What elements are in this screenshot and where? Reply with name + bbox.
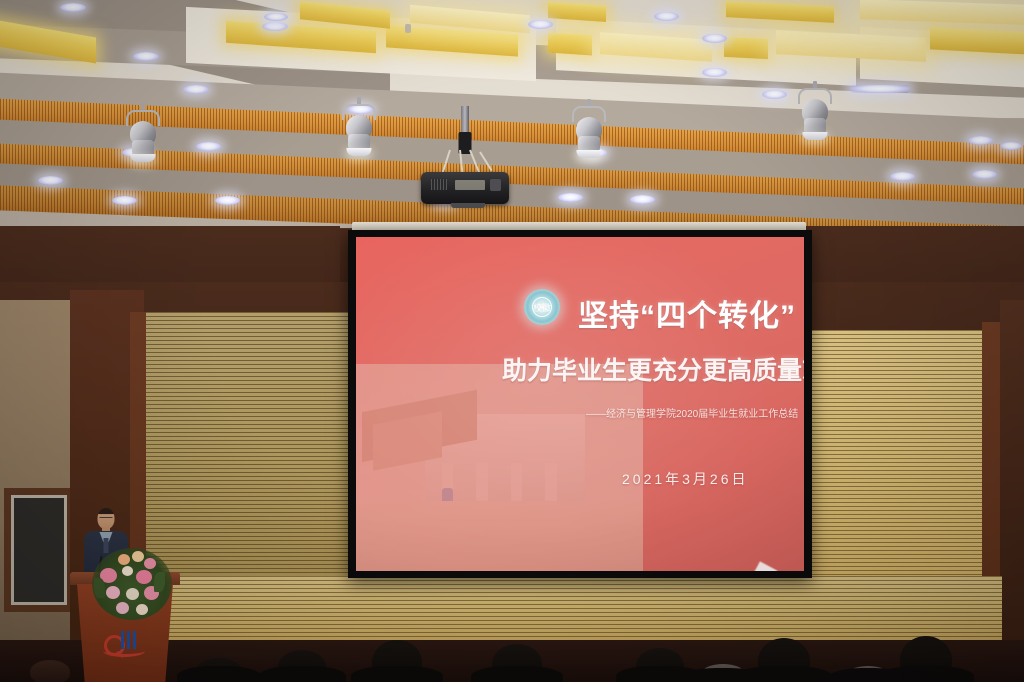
flower-leaf <box>154 572 165 592</box>
flower-petal <box>136 604 148 615</box>
downlight-23 <box>890 172 915 181</box>
sprinkler-head <box>405 24 411 33</box>
downlight-1 <box>60 3 86 12</box>
emblem-inner-mark: 校徽 <box>532 297 552 317</box>
audience-head <box>758 638 810 682</box>
flower-petal <box>106 586 120 599</box>
flower-petal <box>144 558 156 569</box>
downlight-4 <box>183 85 209 94</box>
downlight-6 <box>38 176 63 185</box>
flower-petal <box>122 566 133 576</box>
cove-light-4 <box>548 32 592 55</box>
downlight-10 <box>264 13 288 21</box>
ceiling <box>0 0 1024 232</box>
projector-vent <box>431 179 447 190</box>
downlight-2 <box>262 22 288 31</box>
downlight-18 <box>558 193 583 202</box>
projector-foot <box>451 203 485 208</box>
flower-leaf <box>94 578 105 598</box>
downlight-8 <box>196 142 221 151</box>
downlight-15 <box>702 34 727 43</box>
stage-spotlight-4[interactable] <box>798 88 832 142</box>
slide-byline: ——经济与管理学院2020届毕业生就业工作总结 <box>586 405 798 420</box>
audience-head <box>900 636 952 682</box>
downlight-21 <box>968 136 993 145</box>
audience-head <box>278 650 326 682</box>
speaker-glasses <box>100 517 113 521</box>
downlight-3 <box>133 52 159 61</box>
projector-body <box>421 172 509 204</box>
spotlight-lens <box>347 148 372 156</box>
logo-swoosh-mark <box>103 645 145 657</box>
wall-pilaster-right <box>1000 300 1024 640</box>
slide-title: 坚持“四个转化” <box>578 291 796 335</box>
spotlight-lens <box>577 150 602 158</box>
flower-petal <box>126 588 139 600</box>
podium-university-logo <box>102 631 148 657</box>
downlight-14 <box>654 12 679 21</box>
projector-lens-port <box>490 179 501 191</box>
downlight-strip-25 <box>850 85 910 93</box>
downlight-19 <box>630 195 655 204</box>
auditorium-photo: 校徽 坚持“四个转化” 助力毕业生更充分更高质量就业 ——经济与管理学院2020… <box>0 0 1024 682</box>
spotlight-lens <box>131 154 156 162</box>
downlight-12 <box>528 20 553 29</box>
screen-frame: 校徽 坚持“四个转化” 助力毕业生更充分更高质量就业 ——经济与管理学院2020… <box>348 230 812 578</box>
slide-date: 2021年3月26日 <box>622 469 749 489</box>
downlight-20 <box>762 90 787 99</box>
stage-spotlight-3[interactable] <box>572 106 606 160</box>
downlight-9 <box>215 196 240 205</box>
projection-screen: 校徽 坚持“四个转化” 助力毕业生更充分更高质量就业 ——经济与管理学院2020… <box>356 237 804 571</box>
downlight-7 <box>112 196 137 205</box>
slide-content: 校徽 坚持“四个转化” 助力毕业生更充分更高质量就业 ——经济与管理学院2020… <box>356 237 804 571</box>
flower-petal <box>116 602 129 614</box>
flower-petal <box>132 551 144 562</box>
audience-head <box>700 664 746 682</box>
stage-spotlight-1[interactable] <box>126 110 160 164</box>
downlight-22 <box>1000 142 1022 150</box>
flower-petal <box>118 554 130 565</box>
stage-spotlight-2[interactable] <box>342 104 376 158</box>
audience-head <box>30 660 70 682</box>
slat-wall-lower <box>146 576 1002 644</box>
flower-petal <box>136 570 152 584</box>
downlight-16 <box>702 68 727 77</box>
audience-head <box>372 640 422 682</box>
audience-head <box>846 666 890 682</box>
audience-head <box>492 644 542 682</box>
downlight-24 <box>972 170 997 179</box>
projector-label-plate <box>455 180 485 190</box>
audience-head <box>636 648 684 682</box>
slide-subtitle: 助力毕业生更充分更高质量就业 <box>502 351 804 387</box>
flower-arrangement <box>92 548 172 620</box>
wall-framed-panel <box>4 488 74 612</box>
ceiling-projector[interactable] <box>419 106 511 210</box>
spotlight-lens <box>803 132 828 140</box>
audience-head <box>196 658 242 682</box>
slide-university-emblem-icon: 校徽 <box>524 289 560 325</box>
cove-light-6 <box>724 37 768 59</box>
